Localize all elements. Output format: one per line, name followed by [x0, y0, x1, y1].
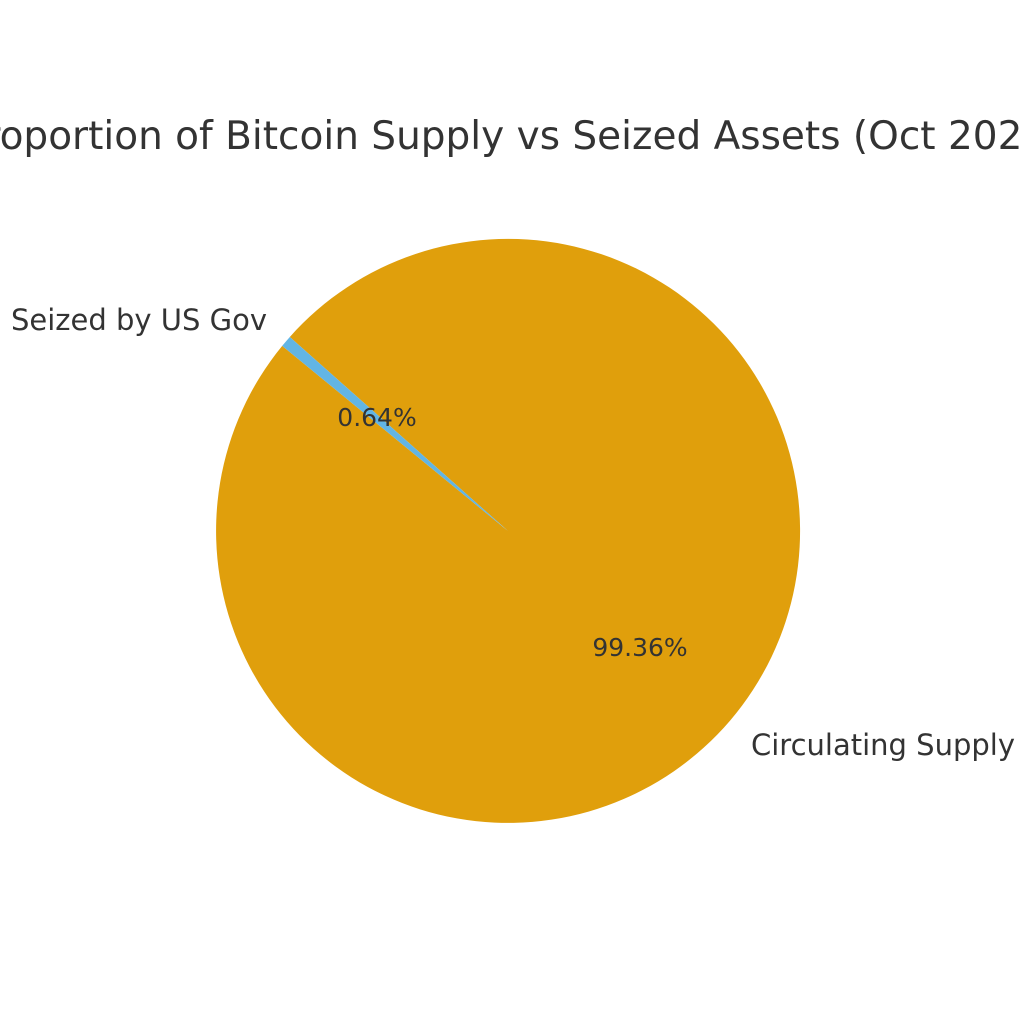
pie-percent-circulating-supply: 99.36%: [592, 635, 687, 660]
pie-chart-figure: Proportion of Bitcoin Supply vs Seized A…: [0, 0, 1024, 1024]
pie-percent-seized-by-us-gov: 0.64%: [337, 405, 416, 430]
pie-canvas: [0, 0, 1024, 1024]
pie-slice-circulating-supply: [216, 239, 800, 823]
pie-label-seized-by-us-gov: Seized by US Gov: [11, 306, 267, 335]
pie-slices: [216, 239, 800, 823]
pie-label-circulating-supply: Circulating Supply: [751, 731, 1015, 760]
